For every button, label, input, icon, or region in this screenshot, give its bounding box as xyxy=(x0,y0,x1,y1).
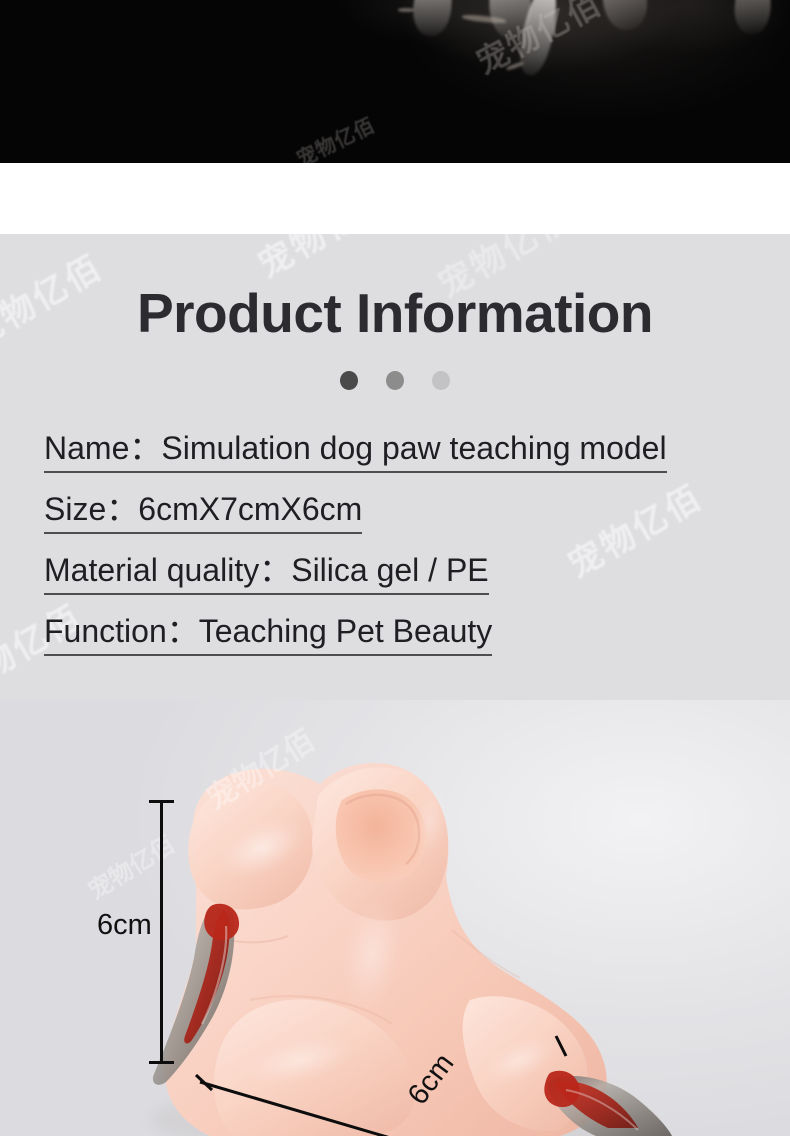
decorative-dots xyxy=(0,371,790,390)
product-hero-photo: 宠物亿佰 宠物亿佰 xyxy=(0,0,790,163)
spec-row-name: Name：Simulation dog paw teaching model xyxy=(44,432,764,493)
spec-line-name: Name：Simulation dog paw teaching model xyxy=(44,432,667,473)
product-detail-page: 宠物亿佰 宠物亿佰 宠物亿佰 宠物亿佰 宠物亿佰 宠物亿佰 宠物亿佰 宠物亿佰 … xyxy=(0,0,790,1136)
spec-value-size: 6cmX7cmX6cm xyxy=(138,491,362,527)
spec-label-material: Material quality： xyxy=(44,552,291,588)
spec-underline xyxy=(44,593,489,595)
product-spec-list: Name：Simulation dog paw teaching model S… xyxy=(44,432,764,676)
spec-underline xyxy=(44,471,667,473)
spec-row-function: Function：Teaching Pet Beauty xyxy=(44,615,764,676)
dimension-label-vertical: 6cm xyxy=(97,909,152,942)
spec-value-name: Simulation dog paw teaching model xyxy=(161,430,666,466)
dot-2 xyxy=(386,371,404,390)
spec-line-size: Size：6cmX7cmX6cm xyxy=(44,493,362,534)
background-watermark: 宠物亿佰 xyxy=(248,234,401,287)
spec-label-size: Size： xyxy=(44,491,138,527)
spec-row-size: Size：6cmX7cmX6cm xyxy=(44,493,764,554)
spec-label-name: Name： xyxy=(44,430,161,466)
dimension-line-vertical xyxy=(160,800,163,1064)
spec-row-material: Material quality：Silica gel / PE xyxy=(44,554,764,615)
spec-value-material: Silica gel / PE xyxy=(291,552,488,588)
spec-underline xyxy=(44,654,492,656)
spec-value-function: Teaching Pet Beauty xyxy=(199,613,493,649)
dot-1 xyxy=(340,371,358,390)
page-title: Product Information xyxy=(0,286,790,341)
spec-line-material: Material quality：Silica gel / PE xyxy=(44,554,489,595)
dot-3 xyxy=(432,371,450,390)
dimension-cap-bottom xyxy=(149,1061,174,1064)
spec-label-function: Function： xyxy=(44,613,199,649)
spec-underline xyxy=(44,532,362,534)
hero-highlight xyxy=(398,8,414,12)
hero-glow-overlay xyxy=(0,0,790,163)
section-separator xyxy=(0,163,790,234)
svg-text:宠物亿佰: 宠物亿佰 xyxy=(83,830,179,905)
spec-line-function: Function：Teaching Pet Beauty xyxy=(44,615,492,656)
